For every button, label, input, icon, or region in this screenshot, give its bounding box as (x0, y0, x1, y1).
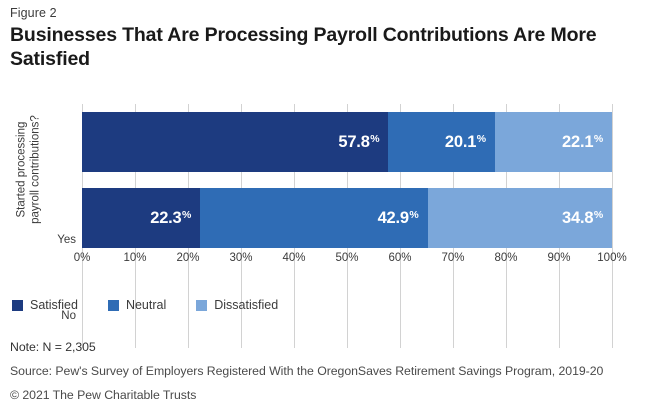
bar-row: 22.3%42.9%34.8% (82, 188, 612, 248)
legend-swatch (108, 300, 119, 311)
bar-value-label: 34.8% (562, 209, 603, 228)
legend-item[interactable]: Satisfied (12, 298, 78, 312)
legend-swatch (196, 300, 207, 311)
chart-legend: SatisfiedNeutralDissatisfied (12, 298, 308, 312)
y-axis-title-line2: payroll contributions? (29, 115, 41, 224)
x-tick-label: 70% (441, 252, 464, 264)
bar-segment[interactable]: 42.9% (200, 188, 427, 248)
footer-copyright: © 2021 The Pew Charitable Trusts (10, 388, 644, 402)
bar-value-label: 22.3% (150, 209, 191, 228)
legend-label: Satisfied (30, 298, 78, 312)
gridline (612, 104, 613, 348)
bar-value-label: 42.9% (378, 209, 419, 228)
bar-value-label: 57.8% (338, 133, 379, 152)
bar-segment[interactable]: 22.3% (82, 188, 200, 248)
x-tick-label: 60% (388, 252, 411, 264)
x-tick-label: 0% (74, 252, 91, 264)
bar-segment[interactable]: 57.8% (82, 112, 388, 172)
legend-item[interactable]: Dissatisfied (196, 298, 278, 312)
x-tick-label: 100% (597, 252, 626, 264)
x-tick-label: 80% (494, 252, 517, 264)
footer-note: Note: N = 2,305 (10, 340, 644, 354)
x-tick-label: 20% (176, 252, 199, 264)
bar-segment[interactable]: 34.8% (428, 188, 612, 248)
chart-plot: Started processing payroll contributions… (0, 100, 650, 270)
page-title: Businesses That Are Processing Payroll C… (10, 24, 634, 72)
legend-label: Neutral (126, 298, 166, 312)
x-tick-label: 40% (282, 252, 305, 264)
x-tick-label: 30% (229, 252, 252, 264)
bar-segment[interactable]: 22.1% (495, 112, 612, 172)
bar-value-label: 22.1% (562, 133, 603, 152)
category-label-yes: Yes (40, 234, 76, 246)
x-tick-label: 10% (123, 252, 146, 264)
bar-row: 57.8%20.1%22.1% (82, 112, 612, 172)
bar-segment[interactable]: 20.1% (388, 112, 495, 172)
legend-label: Dissatisfied (214, 298, 278, 312)
footer-source: Source: Pew's Survey of Employers Regist… (10, 364, 644, 378)
y-axis-title-line1: Started processing (15, 122, 27, 218)
footer: Note: N = 2,305 Source: Pew's Survey of … (10, 340, 644, 412)
y-axis-title: Started processing payroll contributions… (15, 95, 42, 245)
legend-item[interactable]: Neutral (108, 298, 166, 312)
x-tick-label: 50% (335, 252, 358, 264)
x-axis-tick-labels: 0%10%20%30%40%50%60%70%80%90%100% (82, 252, 612, 272)
x-tick-label: 90% (547, 252, 570, 264)
bar-value-label: 20.1% (445, 133, 486, 152)
figure-label: Figure 2 (10, 6, 57, 20)
legend-swatch (12, 300, 23, 311)
